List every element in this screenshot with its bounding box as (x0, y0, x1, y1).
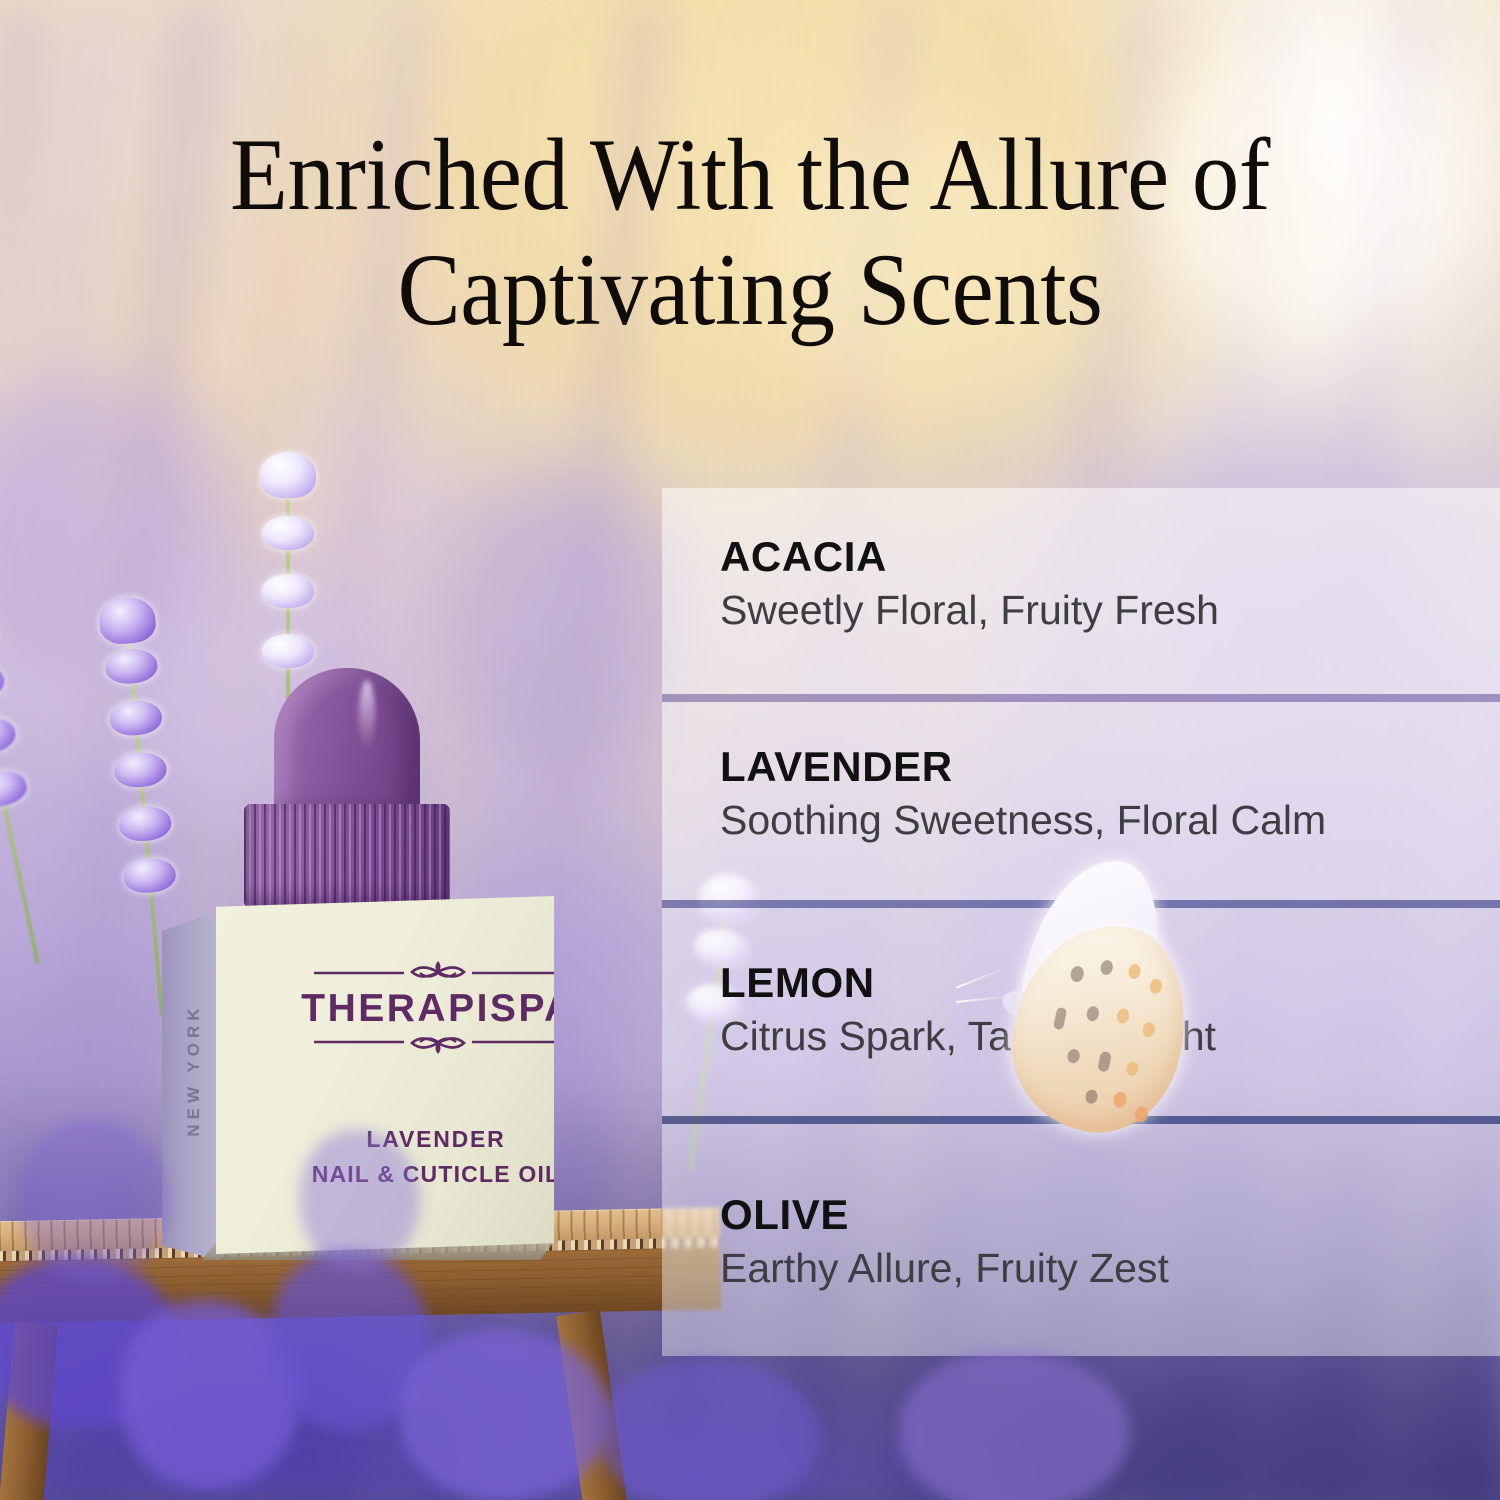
butterfly-icon (958, 858, 1210, 1148)
headline-line-2: Captivating Scents (60, 233, 1440, 348)
scent-row-acacia[interactable]: ACACIA Sweetly Floral, Fruity Fresh (662, 488, 1500, 694)
scent-description: Soothing Sweetness, Floral Calm (720, 800, 1490, 841)
headline-line-1: Enriched With the Allure of (230, 118, 1270, 232)
foreground-lavender-blur (400, 1330, 610, 1500)
lavender-floret (262, 574, 314, 608)
product-marketing-image: NEW YORK THERAPISPA (0, 0, 1500, 1500)
dropper-cap-dome (274, 668, 420, 820)
butterfly-wing-spots (996, 909, 1204, 1147)
foreground-lavender-blur (300, 1130, 420, 1270)
foreground-lavender-blur (20, 1120, 170, 1280)
scent-description: Sweetly Floral, Fruity Fresh (720, 590, 1490, 631)
lavender-floret (0, 714, 19, 758)
flourish-ornament-icon (308, 958, 568, 984)
lavender-floret (262, 516, 314, 550)
page-title: Enriched With the Allure of Captivating … (60, 118, 1440, 349)
lavender-floret (98, 595, 158, 646)
row-text: LAVENDER Soothing Sweetness, Floral Calm (720, 746, 1490, 841)
row-text: ACACIA Sweetly Floral, Fruity Fresh (720, 536, 1490, 631)
row-divider (662, 694, 1500, 702)
scent-title: LAVENDER (720, 746, 1490, 788)
brand-name: THERAPISPA (288, 989, 588, 1028)
scent-row-olive[interactable]: OLIVE Earthy Allure, Fruity Zest (662, 1124, 1500, 1356)
bottle-side-text: NEW YORK (184, 990, 204, 1150)
lavender-floret (0, 767, 30, 811)
lavender-floret (113, 751, 168, 789)
lavender-floret (109, 699, 164, 737)
lavender-floret (104, 647, 159, 685)
bottle-side-panel: NEW YORK (162, 910, 220, 1260)
brand-block: THERAPISPA (288, 958, 588, 1057)
lavender-floret (260, 452, 316, 498)
flourish-ornament-icon (308, 1031, 568, 1057)
scent-title: OLIVE (720, 1194, 1490, 1236)
scent-description: Earthy Allure, Fruity Zest (720, 1248, 1490, 1289)
dropper-cap-collar (244, 804, 450, 908)
scent-title: ACACIA (720, 536, 1490, 578)
butterfly-antenna (956, 965, 1011, 989)
row-text: OLIVE Earthy Allure, Fruity Zest (720, 1194, 1490, 1289)
lavender-floret (262, 634, 314, 668)
